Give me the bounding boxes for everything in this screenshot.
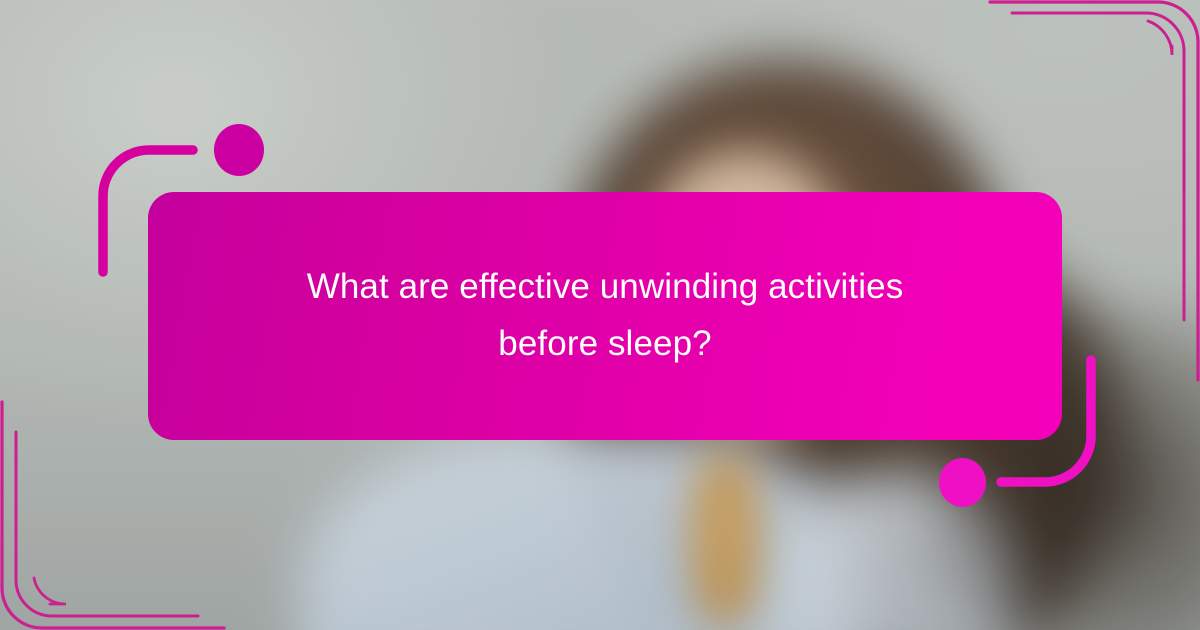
banner-title: What are effective unwinding activities … — [265, 259, 945, 372]
question-banner: What are effective unwinding activities … — [148, 192, 1062, 440]
top-left-dot — [214, 124, 264, 176]
bottom-right-dot — [939, 458, 986, 507]
quote-card-canvas: What are effective unwinding activities … — [0, 0, 1200, 630]
